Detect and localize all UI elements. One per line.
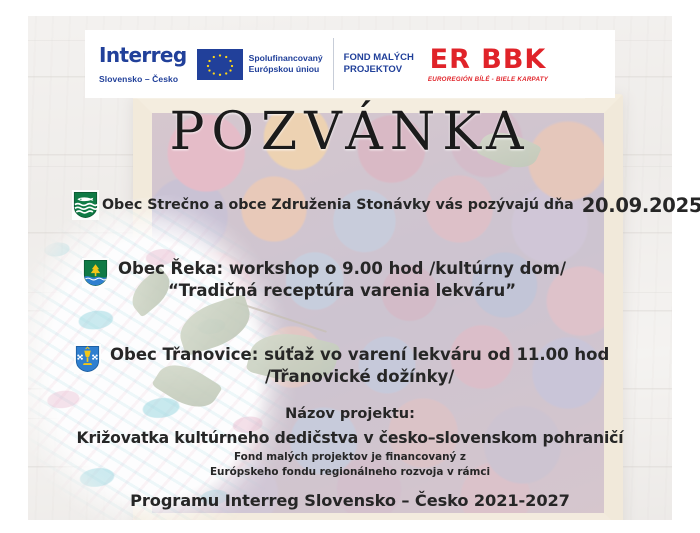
reka-coat-of-arms-icon: [82, 258, 109, 288]
fond-line2: PROJEKTOV: [344, 64, 414, 76]
footer-block: Názov projektu: Križovatka kultúrneho de…: [0, 404, 700, 514]
eu-funding-text: Spolufinancovaný Európskou úniou: [249, 53, 323, 74]
logo-divider: [333, 38, 334, 90]
interreg-logo: Interreg Slovensko – Česko: [99, 45, 197, 84]
event-tranovice-line1: Obec Třanovice: súťaž vo varení lekváru …: [110, 345, 609, 364]
project-label: Názov projektu:: [0, 404, 700, 426]
eu-funding-line1: Spolufinancovaný: [249, 53, 323, 64]
event-reka-text: Obec Řeka: workshop o 9.00 hod /kultúrny…: [118, 258, 566, 302]
event-tranovice-line2: /Třanovické dožínky/: [110, 366, 609, 388]
event-tranovice-text: Obec Třanovice: súťaž vo varení lekváru …: [110, 344, 609, 388]
fond-line1: FOND MALÝCH: [344, 52, 414, 64]
interreg-wordmark: Interreg: [99, 45, 187, 65]
tranovice-coat-of-arms-icon: [74, 344, 101, 374]
eu-emblem: Spolufinancovaný Európskou úniou: [197, 49, 333, 80]
programme-line: Programu Interreg Slovensko – Česko 2021…: [0, 488, 700, 514]
eu-funding-line2: Európskou úniou: [249, 64, 323, 75]
event-row: Obec Třanovice: súťaž vo varení lekváru …: [74, 344, 634, 388]
erbbk-logo: ER BBK EUROREGIÓN BÍLÉ - BIELE KARPATY: [428, 46, 548, 83]
erbbk-subtitle: EUROREGIÓN BÍLÉ - BIELE KARPATY: [428, 76, 548, 83]
event-reka: Obec Řeka: workshop o 9.00 hod /kultúrny…: [82, 258, 642, 302]
funding-line-1: Fond malých projektov je financovaný z: [0, 450, 700, 465]
funding-line-2: Európskeho fondu regionálneho rozvoja v …: [0, 465, 700, 480]
erbbk-wordmark: ER BBK: [430, 46, 547, 73]
strecno-coat-of-arms-icon: [72, 190, 99, 220]
event-reka-line1: Obec Řeka: workshop o 9.00 hod /kultúrny…: [118, 259, 566, 278]
event-row: Obec Řeka: workshop o 9.00 hod /kultúrny…: [82, 258, 642, 302]
interreg-subtitle: Slovensko – Česko: [99, 74, 187, 84]
invitation-line: Obec Strečno a obce Združenia Stonávky v…: [72, 190, 632, 220]
event-tranovice: Obec Třanovice: súťaž vo varení lekváru …: [74, 344, 634, 388]
event-reka-line2: “Tradičná receptúra varenia lekváru”: [118, 280, 566, 302]
logo-bar: Interreg Slovensko – Česko: [85, 30, 615, 98]
project-title: Križovatka kultúrneho dedičstva v česko–…: [0, 426, 700, 450]
fond-malych-projektov-logo: FOND MALÝCH PROJEKTOV: [344, 52, 428, 76]
page-title: POZVÁNKA: [0, 102, 700, 162]
invitation-text: Obec Strečno a obce Združenia Stonávky v…: [102, 197, 574, 213]
eu-flag-icon: [197, 49, 243, 80]
invitation-poster: Interreg Slovensko – Česko: [0, 0, 700, 533]
event-date: 20.09.2025: [582, 194, 700, 217]
